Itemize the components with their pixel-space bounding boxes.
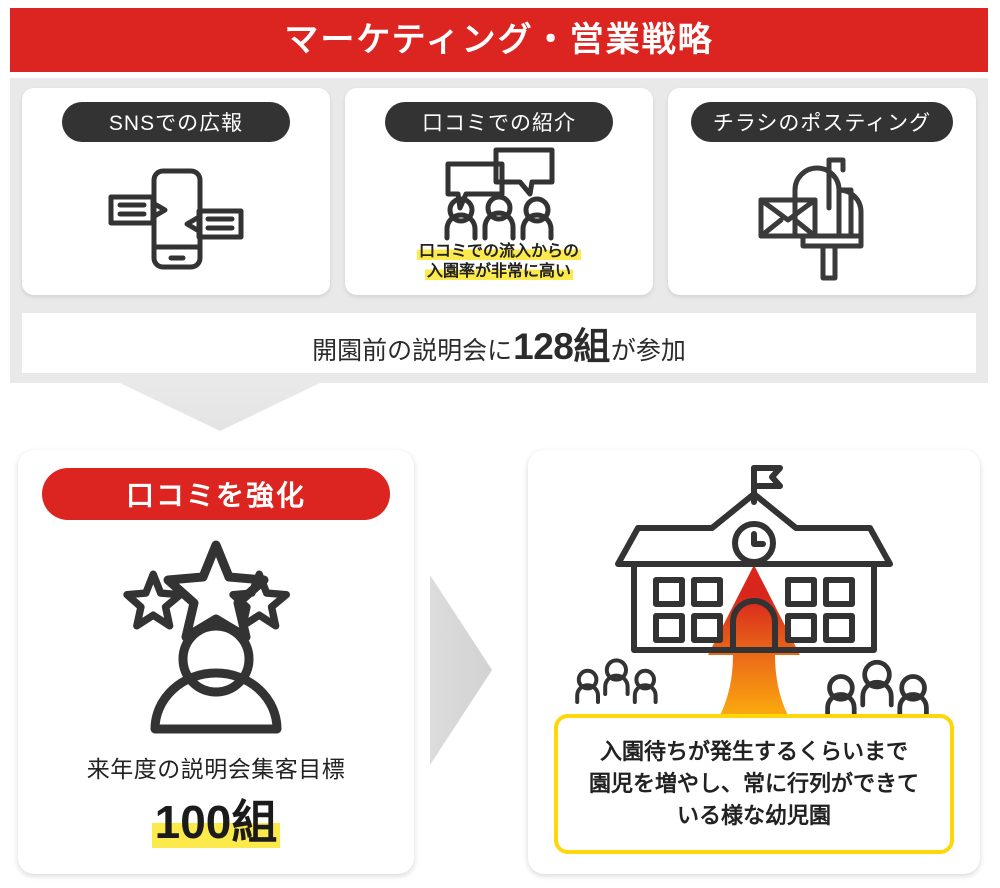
channel-card-flyer[interactable]: チラシのポスティング [668,88,976,295]
attendance-stat-text: 開園前の説明会に128組が参加 [312,316,686,370]
smartphone-chat-icon [22,142,330,295]
channel-card-word-of-mouth-label: 口コミでの紹介 [385,102,613,142]
person-three-stars-icon [18,520,414,750]
strengthen-wom-card[interactable]: 口コミを強化 来年度の説明会集客目標 100組 [18,450,414,874]
channel-card-word-of-mouth[interactable]: 口コミでの紹介 [345,88,653,295]
attendance-prefix: 開園前の説明会に [312,331,512,367]
goal-value-wrap: 100組 [152,786,281,852]
people-group-small-icon [577,660,655,702]
channel-card-sns[interactable]: SNSでの広報 [22,88,330,295]
goal-label: 来年度の説明会集客目標 [87,750,346,784]
attendance-suffix: が参加 [611,331,686,367]
mailbox-envelope-icon [668,142,976,295]
channel-card-flyer-label: チラシのポスティング [691,102,953,142]
vision-card[interactable]: 入園待ちが発生するくらいまで 園児を増やし、常に行列ができて いる様な幼児園 [528,450,980,874]
attendance-value: 128組 [512,316,611,370]
page-title: マーケティング・営業戦略 [284,23,713,57]
header-banner: マーケティング・営業戦略 [10,8,988,72]
channel-card-word-of-mouth-note: 口コミでの流入からの 入園率が非常に高い [417,242,581,290]
chevron-right-connector [430,575,520,765]
people-speech-bubbles-icon [345,146,653,242]
people-group-large-icon [828,662,927,716]
channel-card-sns-label: SNSでの広報 [62,102,290,142]
vision-line-3: いる様な幼児園 [677,800,831,832]
vision-line-2: 園児を増やし、常に行列ができて [589,768,919,800]
strengthen-wom-pill: 口コミを強化 [42,468,390,520]
vision-text-box: 入園待ちが発生するくらいまで 園児を増やし、常に行列ができて いる様な幼児園 [554,714,954,854]
note-line-1: 口コミでの流入からの [417,243,581,260]
attendance-stat-strip: 開園前の説明会に128組が参加 [22,313,976,373]
infographic-root: マーケティング・営業戦略 SNSでの広報 [0,0,1000,888]
vision-line-1: 入園待ちが発生するくらいまで [600,736,908,768]
goal-value: 100組 [152,796,281,848]
note-line-2: 入園率が非常に高い [425,263,573,280]
channels-card-row: SNSでの広報 [22,88,976,295]
chevron-down-connector [120,383,320,431]
